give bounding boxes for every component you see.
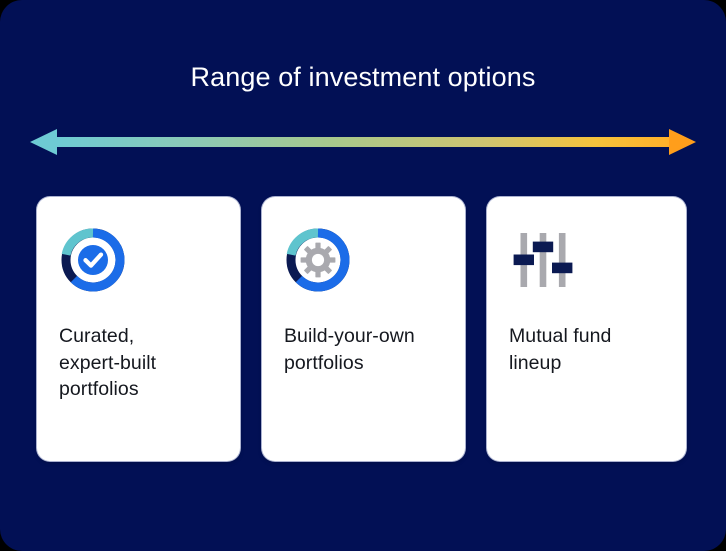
slider-track-2 <box>540 233 547 287</box>
option-card-label: Curated, expert-built portfolios <box>59 323 218 403</box>
option-card-curated-portfolios[interactable]: Curated, expert-built portfolios <box>37 197 240 461</box>
sliders-icon <box>510 227 576 293</box>
slider-handle-3 <box>552 263 572 274</box>
gear-donut-icon <box>285 227 351 293</box>
slider-track-3 <box>559 233 566 287</box>
spectrum-bar <box>56 137 670 147</box>
check-circle-donut-icon <box>60 227 126 293</box>
option-card-build-your-own-portfolios[interactable]: Build-your-own portfolios <box>262 197 465 461</box>
range-spectrum-arrow <box>30 126 696 158</box>
option-card-mutual-fund-lineup[interactable]: Mutual fund lineup <box>487 197 686 461</box>
slider-handle-1 <box>514 255 534 266</box>
page-title: Range of investment options <box>0 60 726 94</box>
gear-icon <box>301 243 336 278</box>
infographic-canvas: Range of investment options <box>0 0 726 551</box>
arrow-head-right-icon <box>669 129 696 155</box>
option-card-row: Curated, expert-built portfolios <box>37 197 686 461</box>
option-card-label: Mutual fund lineup <box>509 323 664 376</box>
option-card-label: Build-your-own portfolios <box>284 323 443 376</box>
arrow-head-left-icon <box>30 129 57 155</box>
slider-handle-2 <box>533 242 553 253</box>
